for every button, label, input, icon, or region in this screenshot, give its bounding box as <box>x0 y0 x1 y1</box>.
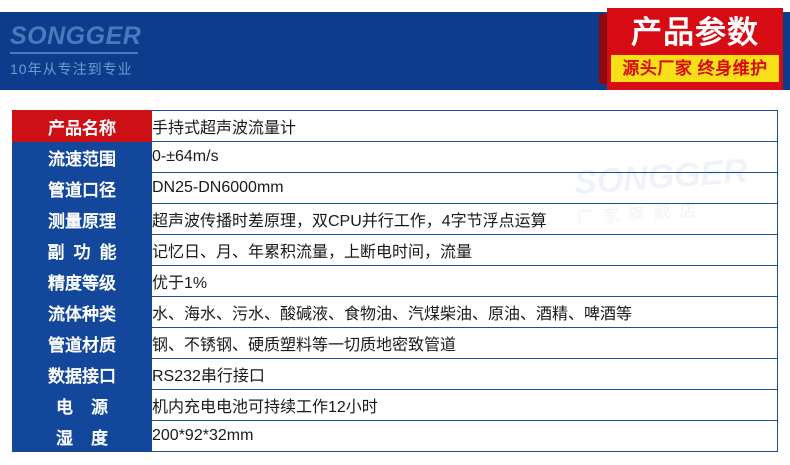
spec-label-text: 副功能 <box>39 243 126 262</box>
spec-label-text: 测量原理 <box>48 212 116 231</box>
spec-value-cell: 200*92*32mm <box>152 421 778 452</box>
spec-row: 精度等级优于1% <box>13 266 778 297</box>
spec-label-text: 电源 <box>38 398 126 417</box>
spec-value-cell: 记忆日、月、年累积流量，上断电时间，流量 <box>152 235 778 266</box>
spec-row: 湿度200*92*32mm <box>13 421 778 452</box>
spec-label-text: 数据接口 <box>48 367 116 386</box>
spec-value-cell: 水、海水、污水、酸碱液、食物油、汽煤柴油、原油、酒精、啤酒等 <box>152 297 778 328</box>
spec-value-cell: 钢、不锈钢、硬质塑料等一切质地密致管道 <box>152 328 778 359</box>
spec-label-cell: 电源 <box>13 390 152 421</box>
spec-label-text: 流速范围 <box>48 150 116 169</box>
spec-label-cell: 湿度 <box>13 421 152 452</box>
banner-subtitle: 源头厂家 终身维护 <box>611 55 779 82</box>
spec-row: 管道口径DN25-DN6000mm <box>13 173 778 204</box>
product-parameters-banner: 产品参数 源头厂家 终身维护 <box>607 8 783 90</box>
spec-label-text: 流体种类 <box>48 305 116 324</box>
spec-label-cell: 管道材质 <box>13 328 152 359</box>
spec-value-cell: 超声波传播时差原理，双CPU并行工作，4字节浮点运算 <box>152 204 778 235</box>
spec-label-text: 湿度 <box>38 429 126 448</box>
banner-title: 产品参数 <box>607 12 783 54</box>
spec-label-cell: 副功能 <box>13 235 152 266</box>
spec-value-cell: DN25-DN6000mm <box>152 173 778 204</box>
spec-row: 测量原理超声波传播时差原理，双CPU并行工作，4字节浮点运算 <box>13 204 778 235</box>
logo-divider <box>10 52 138 54</box>
spec-label-cell: 产品名称 <box>13 111 152 142</box>
spec-row: 副功能记忆日、月、年累积流量，上断电时间，流量 <box>13 235 778 266</box>
product-spec-table: 产品名称手持式超声波流量计流速范围0-±64m/s管道口径DN25-DN6000… <box>12 110 778 452</box>
spec-label-cell: 数据接口 <box>13 359 152 390</box>
spec-row: 电源机内充电电池可持续工作12小时 <box>13 390 778 421</box>
spec-value-cell: RS232串行接口 <box>152 359 778 390</box>
spec-value-cell: 机内充电电池可持续工作12小时 <box>152 390 778 421</box>
logo-wordmark: SONGGER <box>10 24 160 49</box>
spec-label-text: 精度等级 <box>48 274 116 293</box>
spec-label-cell: 测量原理 <box>13 204 152 235</box>
spec-label-cell: 流体种类 <box>13 297 152 328</box>
spec-label-cell: 流速范围 <box>13 142 152 173</box>
spec-table-body: 产品名称手持式超声波流量计流速范围0-±64m/s管道口径DN25-DN6000… <box>13 111 778 452</box>
spec-row: 流速范围0-±64m/s <box>13 142 778 173</box>
spec-label-cell: 管道口径 <box>13 173 152 204</box>
spec-label-text: 管道口径 <box>48 181 116 200</box>
logo-tagline: 10年从专注到专业 <box>10 59 160 79</box>
spec-value-cell: 优于1% <box>152 266 778 297</box>
spec-row: 流体种类水、海水、污水、酸碱液、食物油、汽煤柴油、原油、酒精、啤酒等 <box>13 297 778 328</box>
spec-label-text: 产品名称 <box>48 119 116 138</box>
spec-row: 数据接口RS232串行接口 <box>13 359 778 390</box>
spec-label-cell: 精度等级 <box>13 266 152 297</box>
spec-row: 管道材质钢、不锈钢、硬质塑料等一切质地密致管道 <box>13 328 778 359</box>
spec-value-cell: 0-±64m/s <box>152 142 778 173</box>
brand-logo: SONGGER 10年从专注到专业 <box>10 24 160 79</box>
spec-label-text: 管道材质 <box>48 336 116 355</box>
spec-row: 产品名称手持式超声波流量计 <box>13 111 778 142</box>
spec-value-cell: 手持式超声波流量计 <box>152 111 778 142</box>
